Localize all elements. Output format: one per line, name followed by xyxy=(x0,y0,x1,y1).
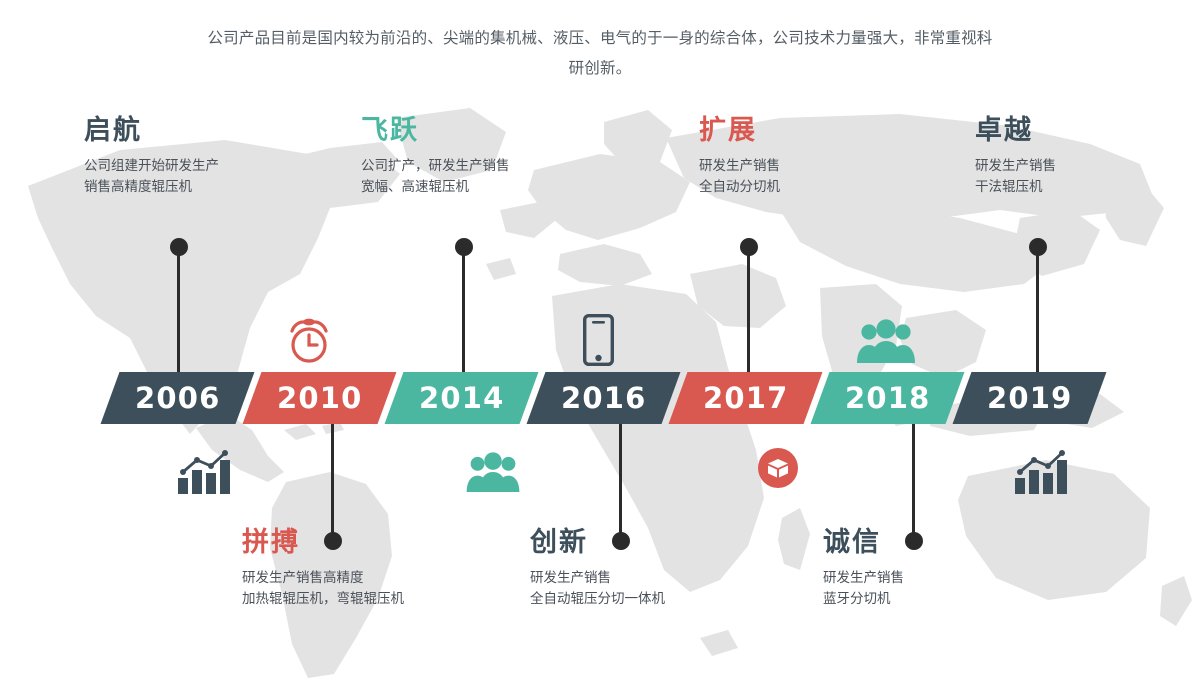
milestone-title: 诚信 xyxy=(823,528,1063,558)
year-chevron-2017[interactable]: 2017 xyxy=(669,372,823,424)
milestone-2018: 诚信 研发生产销售 蓝牙分切机 xyxy=(823,528,1063,609)
people-group-icon xyxy=(466,452,520,492)
bar-chart-growth-icon xyxy=(1015,450,1069,494)
connector-dot-2010 xyxy=(324,532,342,550)
slide-canvas: 公司产品目前是国内较为前沿的、尖端的集机械、液压、电气的于一身的综合体，公司技术… xyxy=(0,0,1200,697)
milestone-description: 研发生产销售 干法辊压机 xyxy=(975,155,1195,197)
milestone-description: 公司组建开始研发生产 销售高精度辊压机 xyxy=(84,155,334,197)
year-chevron-2010[interactable]: 2010 xyxy=(243,372,397,424)
milestone-2010: 拼搏 研发生产销售高精度 加热辊辊压机，弯辊辊压机 xyxy=(242,528,522,609)
milestone-description: 公司扩产，研发生产销售 宽幅、高速辊压机 xyxy=(361,155,611,197)
milestone-description: 研发生产销售 蓝牙分切机 xyxy=(823,567,1063,609)
year-label: 2006 xyxy=(135,381,221,415)
year-label: 2016 xyxy=(561,381,647,415)
connector-stem-2019 xyxy=(1036,252,1039,374)
connector-stem-2010 xyxy=(331,422,334,534)
people-group-icon xyxy=(857,319,915,363)
milestone-2006: 启航 公司组建开始研发生产 销售高精度辊压机 xyxy=(84,116,334,197)
smartphone-icon xyxy=(583,314,614,366)
year-ribbon: 2006 2010 2014 2016 2017 2018 2019 xyxy=(0,372,1200,424)
milestone-title: 拼搏 xyxy=(242,528,522,558)
connector-stem-2006 xyxy=(177,252,180,374)
year-chevron-2014[interactable]: 2014 xyxy=(385,372,539,424)
package-box-icon xyxy=(758,448,798,488)
milestone-description: 研发生产销售高精度 加热辊辊压机，弯辊辊压机 xyxy=(242,567,522,609)
connector-stem-2014 xyxy=(462,252,465,374)
year-label: 2010 xyxy=(277,381,363,415)
connector-stem-2016 xyxy=(619,422,622,534)
milestone-description: 研发生产销售 全自动辊压分切一体机 xyxy=(530,567,810,609)
year-chevron-2018[interactable]: 2018 xyxy=(811,372,965,424)
year-label: 2019 xyxy=(987,381,1073,415)
milestone-2019: 卓越 研发生产销售 干法辊压机 xyxy=(975,116,1195,197)
milestone-title: 飞跃 xyxy=(361,116,611,146)
year-label: 2017 xyxy=(703,381,789,415)
connector-stem-2017 xyxy=(747,252,750,374)
milestone-2014: 飞跃 公司扩产，研发生产销售 宽幅、高速辊压机 xyxy=(361,116,611,197)
milestone-title: 创新 xyxy=(530,528,810,558)
year-chevron-2019[interactable]: 2019 xyxy=(953,372,1107,424)
milestone-title: 扩展 xyxy=(699,116,949,146)
connector-dot-2018 xyxy=(905,532,923,550)
bar-chart-growth-icon xyxy=(178,450,232,494)
year-label: 2018 xyxy=(845,381,931,415)
milestone-title: 卓越 xyxy=(975,116,1195,146)
connector-stem-2018 xyxy=(912,422,915,534)
year-chevron-2006[interactable]: 2006 xyxy=(101,372,255,424)
milestone-2017: 扩展 研发生产销售 全自动分切机 xyxy=(699,116,949,197)
year-chevron-2016[interactable]: 2016 xyxy=(527,372,681,424)
intro-paragraph: 公司产品目前是国内较为前沿的、尖端的集机械、液压、电气的于一身的综合体，公司技术… xyxy=(200,24,1000,84)
milestone-title: 启航 xyxy=(84,116,334,146)
alarm-clock-icon xyxy=(286,317,332,367)
connector-dot-2016 xyxy=(612,532,630,550)
milestone-2016: 创新 研发生产销售 全自动辊压分切一体机 xyxy=(530,528,810,609)
year-label: 2014 xyxy=(419,381,505,415)
milestone-description: 研发生产销售 全自动分切机 xyxy=(699,155,949,197)
